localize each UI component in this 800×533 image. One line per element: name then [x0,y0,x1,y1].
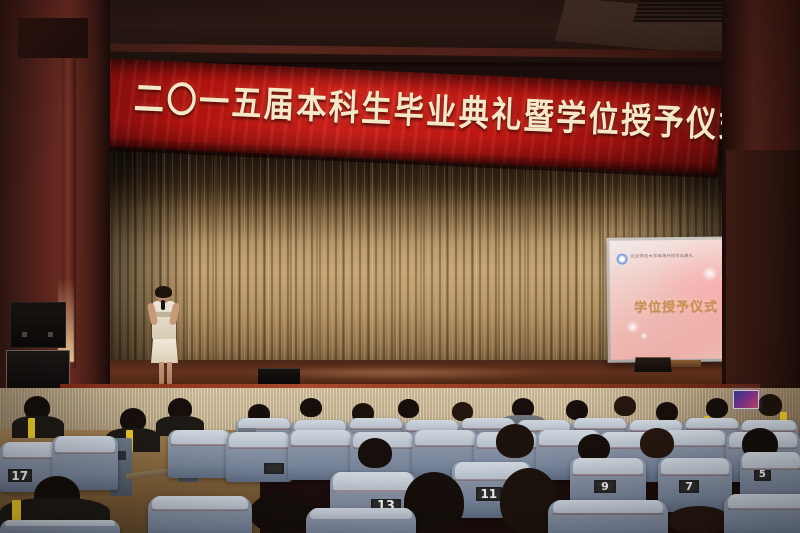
seat-number-plate: 17 [8,469,32,482]
seat-trim [333,490,412,492]
proscenium-corner-left [18,18,88,58]
banner-title-text: 二〇一五届本科生毕业典礼暨学位授予仪式 [133,69,705,147]
screen-sparkle-icon [640,332,647,339]
speaker-screw-icon [48,332,53,337]
audience-seat-7: 7 [658,458,732,512]
foreground-seat [724,494,800,533]
seat-headrest [553,500,663,513]
screen-sparkle-icon [702,266,718,282]
microphone-icon [161,300,165,310]
seat-headrest [5,520,115,526]
seat-trim [55,452,116,454]
presenter-leg-left [159,362,164,384]
seat-number-plate [264,463,284,474]
audience-head [758,394,782,416]
seat-headrest [661,458,729,475]
audience-head [656,402,678,422]
audience-head [358,438,392,468]
university-seal-icon [616,253,629,266]
seat-headrest [728,494,800,509]
screen-header-text: 北京师范大学珠海分校毕业典礼 [631,253,694,260]
seat-headrest [333,472,412,492]
seat-headrest [742,452,799,469]
stage-monitor-speaker [258,368,300,384]
seat-trim [661,474,729,476]
audience-head [496,424,534,458]
speaker-screw-icon [22,332,27,337]
seat-trim [728,508,800,510]
seat-headrest [310,508,411,519]
foreground-seat [148,496,252,533]
seat-headrest [171,430,230,445]
foreground-seat [548,500,668,533]
seat-headrest [152,496,248,510]
foreground-seat [306,508,416,533]
graduation-stole [28,418,35,438]
audience-laptop [733,390,759,409]
seat-trim [229,447,290,449]
seat-trim [152,509,248,511]
presenter-skirt [151,337,178,363]
screen-sparkle-icon [626,320,639,333]
seat-trim [415,445,476,447]
seat-trim [350,428,402,430]
foreground-seat [0,520,120,533]
audience-head [300,398,322,417]
presenter-leg-right [167,362,172,384]
seat-trim [573,474,643,476]
audience-head [398,399,419,418]
floor-monitor-speaker [634,357,671,372]
seat-trim [171,444,230,446]
presenter-hair [155,286,172,298]
seat-headrest [573,458,643,475]
seat-number-plate: 5 [754,470,771,481]
seat-trim [291,445,352,447]
seat-trim [742,468,799,470]
audience-seat [168,430,232,478]
seat-headrest [229,432,290,448]
audience-seat [226,432,292,482]
seat-number-plate: 11 [476,487,502,501]
foreground-audience-head [668,506,730,533]
audience-gown [12,416,64,438]
seat-number-plate: 9 [594,480,615,493]
auditorium-photo: 北京师范大学珠海分校毕业典礼 学位授予仪式 二〇一五届本科生毕业典礼暨学位授予仪… [0,0,800,533]
audience-head [706,398,728,418]
stage-speaker-top [10,302,66,348]
audience-head [640,428,674,458]
audience-head [566,400,588,420]
seat-headrest [291,430,352,446]
side-wall-right [726,150,800,415]
seat-trim [553,513,663,515]
seat-number-plate: 7 [679,480,700,493]
screen-title-text: 学位授予仪式 [634,296,718,316]
audience-head [614,396,636,416]
seat-headrest [55,436,116,453]
seat-headrest [415,430,476,446]
